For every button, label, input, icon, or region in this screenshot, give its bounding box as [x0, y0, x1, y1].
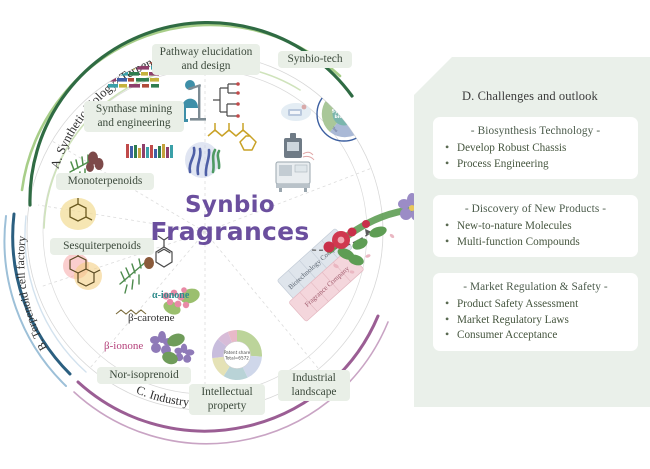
- sector-label-industrial-line2: landscape: [292, 386, 337, 398]
- list-item: Product Safety Assessment: [441, 297, 630, 313]
- list-item: Consumer Acceptance: [441, 328, 630, 344]
- sector-label-intellectual-property: Intellectual property: [189, 384, 265, 415]
- sector-label-synthase-line2: and engineering: [97, 117, 170, 129]
- wheel-center-line2: biology: [334, 114, 353, 120]
- wheel-quadrant-3: Learn: [326, 96, 335, 105]
- donut-title-line1: Total=6572: [224, 356, 249, 361]
- outlook-card-2-head: - Market Regulation & Safety -: [441, 281, 630, 293]
- sector-label-ip-line2: property: [208, 400, 247, 412]
- list-item: Process Engineering: [441, 157, 630, 173]
- outlook-card-discovery: - Discovery of New Products - New-to-nat…: [433, 195, 638, 257]
- sector-label-synbio-tech: Synbio-tech: [278, 51, 352, 68]
- monoterpene-structure-icon: [60, 198, 96, 230]
- sector-label-synbio-tech-text: Synbio-tech: [287, 53, 342, 65]
- outlook-card-0-head: - Biosynthesis Technology -: [441, 125, 630, 137]
- sector-label-ip-line1: Intellectual: [201, 386, 252, 398]
- donut-title-line0: Patent share: [224, 350, 251, 355]
- lab-equipment-icon: [276, 162, 310, 192]
- sector-label-synthase-line1: Synthase mining: [96, 103, 172, 115]
- outlook-card-1-head: - Discovery of New Products -: [441, 203, 630, 215]
- molecule-label-alpha-ionone: α-ionone: [152, 290, 189, 301]
- center-title: Synbio Fragrances: [145, 192, 315, 246]
- wheel-quadrant-1: Build: [355, 115, 364, 124]
- list-item: Develop Robust Chassis: [441, 141, 630, 157]
- sector-label-sesquiterpenoids: Sesquiterpenoids: [50, 238, 154, 255]
- outlook-title: D. Challenges and outlook: [462, 89, 598, 104]
- list-item: Market Regulatory Laws: [441, 313, 630, 329]
- sector-label-pathway: Pathway elucidation and design: [152, 44, 260, 75]
- wheel-center-line1: Synthetic: [332, 109, 357, 115]
- outlook-card-1-list: New-to-nature Molecules Multi-function C…: [441, 219, 630, 250]
- outlook-card-2-list: Product Safety Assessment Market Regulat…: [441, 297, 630, 344]
- center-title-line2: Fragrances: [145, 218, 315, 246]
- outlook-card-0-list: Develop Robust Chassis Process Engineeri…: [441, 141, 630, 172]
- sector-label-industrial-line1: Industrial: [292, 372, 336, 384]
- sector-label-monoterpenoids-text: Monoterpenoids: [68, 175, 143, 187]
- figure-canvas: A. Synthetic biology×Terpenoid fragrance…: [0, 0, 650, 469]
- sector-label-nor-isoprenoid-text: Nor-isoprenoid: [109, 369, 178, 381]
- patent-share-donut: Patent shareTotal=6572: [212, 330, 262, 380]
- computational-design-icon: [281, 103, 311, 121]
- outlook-card-biosynthesis: - Biosynthesis Technology - Develop Robu…: [433, 117, 638, 179]
- sector-label-nor-isoprenoid: Nor-isoprenoid: [97, 367, 191, 384]
- sector-label-monoterpenoids: Monoterpenoids: [56, 173, 154, 190]
- molecule-label-beta-ionone: β-ionone: [104, 340, 143, 352]
- center-title-line1: Synbio: [145, 192, 315, 218]
- list-item: Multi-function Compounds: [441, 235, 630, 251]
- outlook-panel: D. Challenges and outlook - Biosynthesis…: [414, 57, 650, 407]
- wheel-quadrant-0: Design: [352, 100, 363, 110]
- molecule-label-beta-carotene: β-carotene: [128, 312, 175, 324]
- outlook-card-market: - Market Regulation & Safety - Product S…: [433, 273, 638, 351]
- sector-label-sesquiterpenoids-text: Sesquiterpenoids: [63, 240, 141, 252]
- sector-label-pathway-line2: and design: [181, 60, 230, 72]
- sector-label-pathway-line1: Pathway elucidation: [160, 46, 253, 58]
- sector-label-industrial-landscape: Industrial landscape: [278, 370, 350, 401]
- protein-structure-icon: [185, 142, 219, 178]
- sector-label-synthase: Synthase mining and engineering: [84, 101, 184, 132]
- synthetic-biology-wheel-icon: Synthetic biology Design Build Test Lear…: [317, 87, 371, 141]
- list-item: New-to-nature Molecules: [441, 219, 630, 235]
